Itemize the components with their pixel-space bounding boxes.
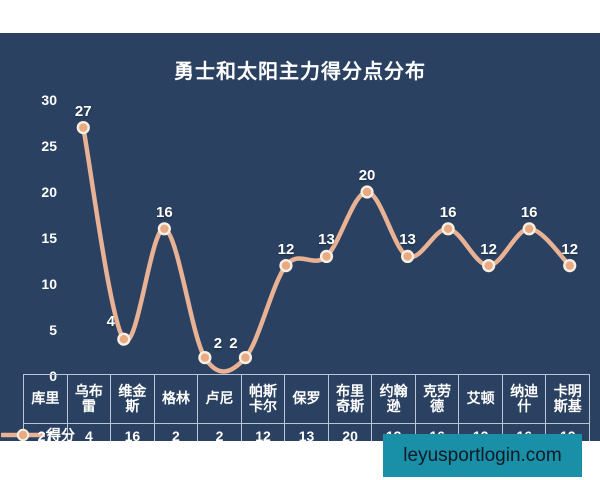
data-point-label: 13 — [318, 231, 335, 248]
table-cell-score: 16 — [111, 424, 155, 442]
site-watermark-badge: leyusportlogin.com — [383, 434, 582, 477]
table-cell-score: 20 — [328, 424, 372, 442]
data-point-marker — [240, 352, 251, 363]
table-cell-player-name: 格林 — [154, 375, 198, 424]
data-point-marker — [443, 223, 454, 234]
data-point-marker — [362, 187, 373, 198]
table-cell-score: 13 — [285, 424, 329, 442]
data-point-marker — [483, 260, 494, 271]
y-axis-tick: 25 — [41, 138, 57, 154]
y-axis-tick: 5 — [49, 322, 57, 338]
table-cell-player-name: 维金斯 — [111, 375, 155, 424]
data-point-label: 12 — [561, 241, 578, 258]
table-cell-player-name: 布里奇斯 — [328, 375, 372, 424]
data-point-marker — [402, 251, 413, 262]
table-cell-player-name: 卡明斯基 — [546, 375, 590, 424]
table-cell-player-name: 克劳德 — [415, 375, 459, 424]
table-row-names: 库里乌布雷维金斯格林卢尼帕斯卡尔保罗布里奇斯约翰逊克劳德艾顿纳迪什卡明斯基 — [0, 375, 590, 424]
data-point-label: 16 — [156, 204, 173, 221]
data-point-marker — [524, 223, 535, 234]
page-title: 勇士和太阳主力得分点分布 — [0, 55, 600, 84]
data-point-label: 13 — [399, 231, 416, 248]
y-axis-tick: 10 — [41, 276, 57, 292]
y-axis: 051015202530 — [0, 100, 57, 376]
data-point-marker — [564, 260, 575, 271]
legend-entry: 得分 — [0, 424, 24, 442]
y-axis-tick: 30 — [41, 92, 57, 108]
data-point-label: 16 — [521, 204, 538, 221]
data-point-marker — [281, 260, 292, 271]
table-cell-player-name: 乌布雷 — [67, 375, 111, 424]
table-cell-player-name: 帕斯卡尔 — [241, 375, 285, 424]
data-point-marker — [321, 251, 332, 262]
table-cell-player-name: 约翰逊 — [372, 375, 416, 424]
y-axis-tick: 20 — [41, 184, 57, 200]
table-cell-score: 2 — [198, 424, 242, 442]
data-point-label: 4 — [107, 313, 115, 330]
data-point-marker — [118, 334, 129, 345]
table-cell-player-name: 纳迪什 — [502, 375, 546, 424]
chart-panel: 勇士和太阳主力得分点分布 051015202530 27416221213201… — [0, 33, 600, 441]
y-axis-tick: 15 — [41, 230, 57, 246]
table-cell-score: 12 — [241, 424, 285, 442]
data-point-label: 12 — [480, 241, 497, 258]
table-cell-player-name: 艾顿 — [459, 375, 503, 424]
table-cell-score: 2 — [154, 424, 198, 442]
table-cell-player-name: 保罗 — [285, 375, 329, 424]
data-point-label: 2 — [229, 335, 237, 352]
data-point-label: 2 — [214, 335, 222, 352]
site-watermark-text: leyusportlogin.com — [403, 445, 561, 467]
table-corner-blank — [0, 375, 24, 424]
data-point-label: 12 — [278, 241, 295, 258]
table-cell-player-name: 库里 — [24, 375, 68, 424]
data-point-marker — [159, 223, 170, 234]
data-table: 库里乌布雷维金斯格林卢尼帕斯卡尔保罗布里奇斯约翰逊克劳德艾顿纳迪什卡明斯基 得分 — [0, 374, 590, 441]
data-point-marker — [78, 122, 89, 133]
data-point-label: 27 — [75, 103, 92, 120]
table-cell-player-name: 卢尼 — [198, 375, 242, 424]
data-point-label: 16 — [440, 204, 457, 221]
data-point-marker — [199, 352, 210, 363]
data-point-label: 20 — [359, 167, 376, 184]
screenshot-root: 勇士和太阳主力得分点分布 051015202530 27416221213201… — [0, 0, 600, 480]
